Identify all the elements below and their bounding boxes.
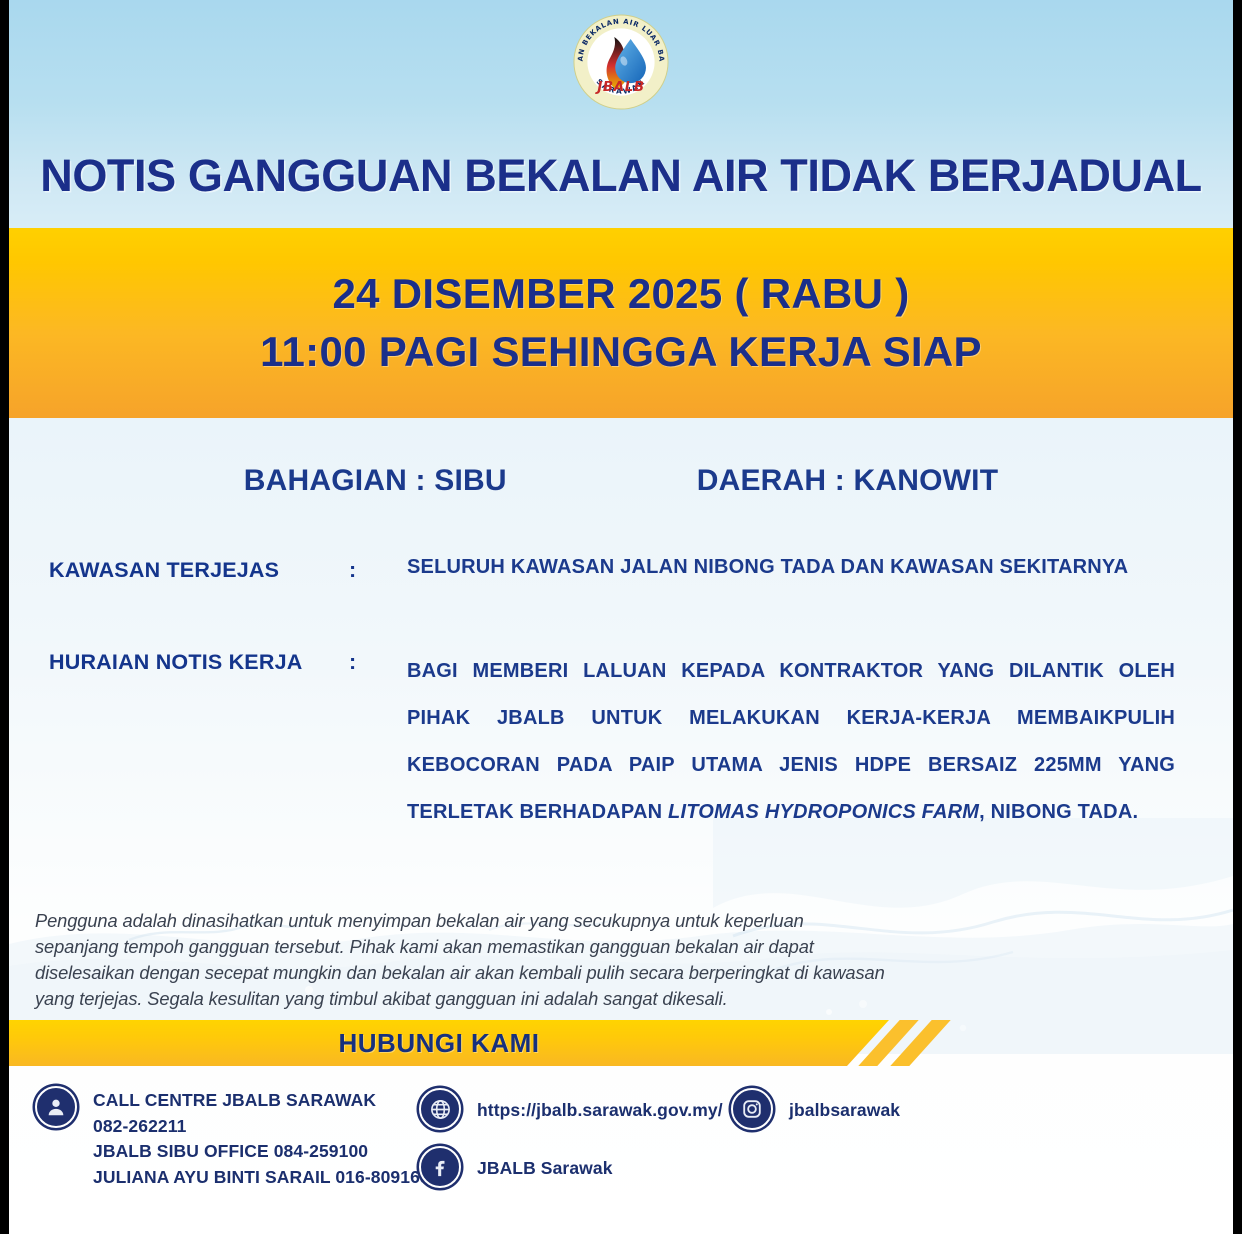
poster-right-border [1233,0,1242,1234]
date-band: 24 DISEMBER 2025 ( RABU ) 11:00 PAGI SEH… [9,228,1233,418]
contact-details: CALL CENTRE JBALB SARAWAK 082-262211 JBA… [9,1080,1009,1210]
work-description-value: BAGI MEMBERI LALUAN KEPADA KONTRAKTOR YA… [407,648,1183,836]
poster-body: BAHAGIAN : SIBU DAERAH : KANOWIT KAWASAN… [9,418,1233,1234]
call-centre-text: CALL CENTRE JBALB SARAWAK 082-262211 JBA… [93,1086,440,1190]
district-label: DAERAH : KANOWIT [697,464,999,498]
jbalb-logo: JABATAN BEKALAN AIR LUAR BANDAR SARAWAK … [573,14,669,110]
work-description-location: LITOMAS HYDROPONICS FARM [668,801,979,823]
contact-heading-bar: HUBUNGI KAMI [9,1020,1009,1066]
call-centre-block[interactable]: CALL CENTRE JBALB SARAWAK 082-262211 JBA… [35,1086,440,1190]
poster-title: NOTIS GANGGUAN BEKALAN AIR TIDAK BERJADU… [9,150,1233,202]
affected-area-colon: : [349,556,407,583]
website-block[interactable]: https://jbalb.sarawak.gov.my/ [419,1088,723,1130]
work-description-field: HURAIAN NOTIS KERJA : BAGI MEMBERI LALUA… [49,648,1183,836]
facebook-icon [419,1146,461,1188]
notice-date: 24 DISEMBER 2025 ( RABU ) [333,265,910,323]
water-disruption-notice-poster: JABATAN BEKALAN AIR LUAR BANDAR SARAWAK … [0,0,1242,1234]
region-row: BAHAGIAN : SIBU DAERAH : KANOWIT [9,464,1233,498]
poster-header: JABATAN BEKALAN AIR LUAR BANDAR SARAWAK … [9,0,1233,228]
globe-icon [419,1088,461,1130]
poster-left-border [0,0,9,1234]
contact-heading-label: HUBUNGI KAMI [9,1020,869,1066]
person-icon [35,1086,77,1128]
affected-area-label: KAWASAN TERJEJAS [49,556,349,583]
work-description-label: HURAIAN NOTIS KERJA [49,648,349,675]
division-label: BAHAGIAN : SIBU [244,464,507,498]
notice-time: 11:00 PAGI SEHINGGA KERJA SIAP [260,323,982,381]
disclaimer-text: Pengguna adalah dinasihatkan untuk menyi… [35,908,885,1012]
work-description-colon: : [349,648,407,675]
jbalb-logo-icon: JABATAN BEKALAN AIR LUAR BANDAR SARAWAK … [573,14,669,110]
affected-area-field: KAWASAN TERJEJAS : SELURUH KAWASAN JALAN… [49,556,1183,583]
facebook-page[interactable]: JBALB Sarawak [477,1146,613,1182]
work-description-part2: , NIBONG TADA. [979,801,1138,823]
facebook-block[interactable]: JBALB Sarawak [419,1146,613,1188]
svg-text:JBALB: JBALB [594,80,644,95]
website-url[interactable]: https://jbalb.sarawak.gov.my/ [477,1088,723,1124]
instagram-handle[interactable]: jbalbsarawak [789,1088,900,1124]
instagram-block[interactable]: jbalbsarawak [731,1088,900,1130]
affected-area-value: SELURUH KAWASAN JALAN NIBONG TADA DAN KA… [407,556,1183,579]
work-description-part1: BAGI MEMBERI LALUAN KEPADA KONTRAKTOR YA… [407,660,1175,823]
instagram-icon [731,1088,773,1130]
